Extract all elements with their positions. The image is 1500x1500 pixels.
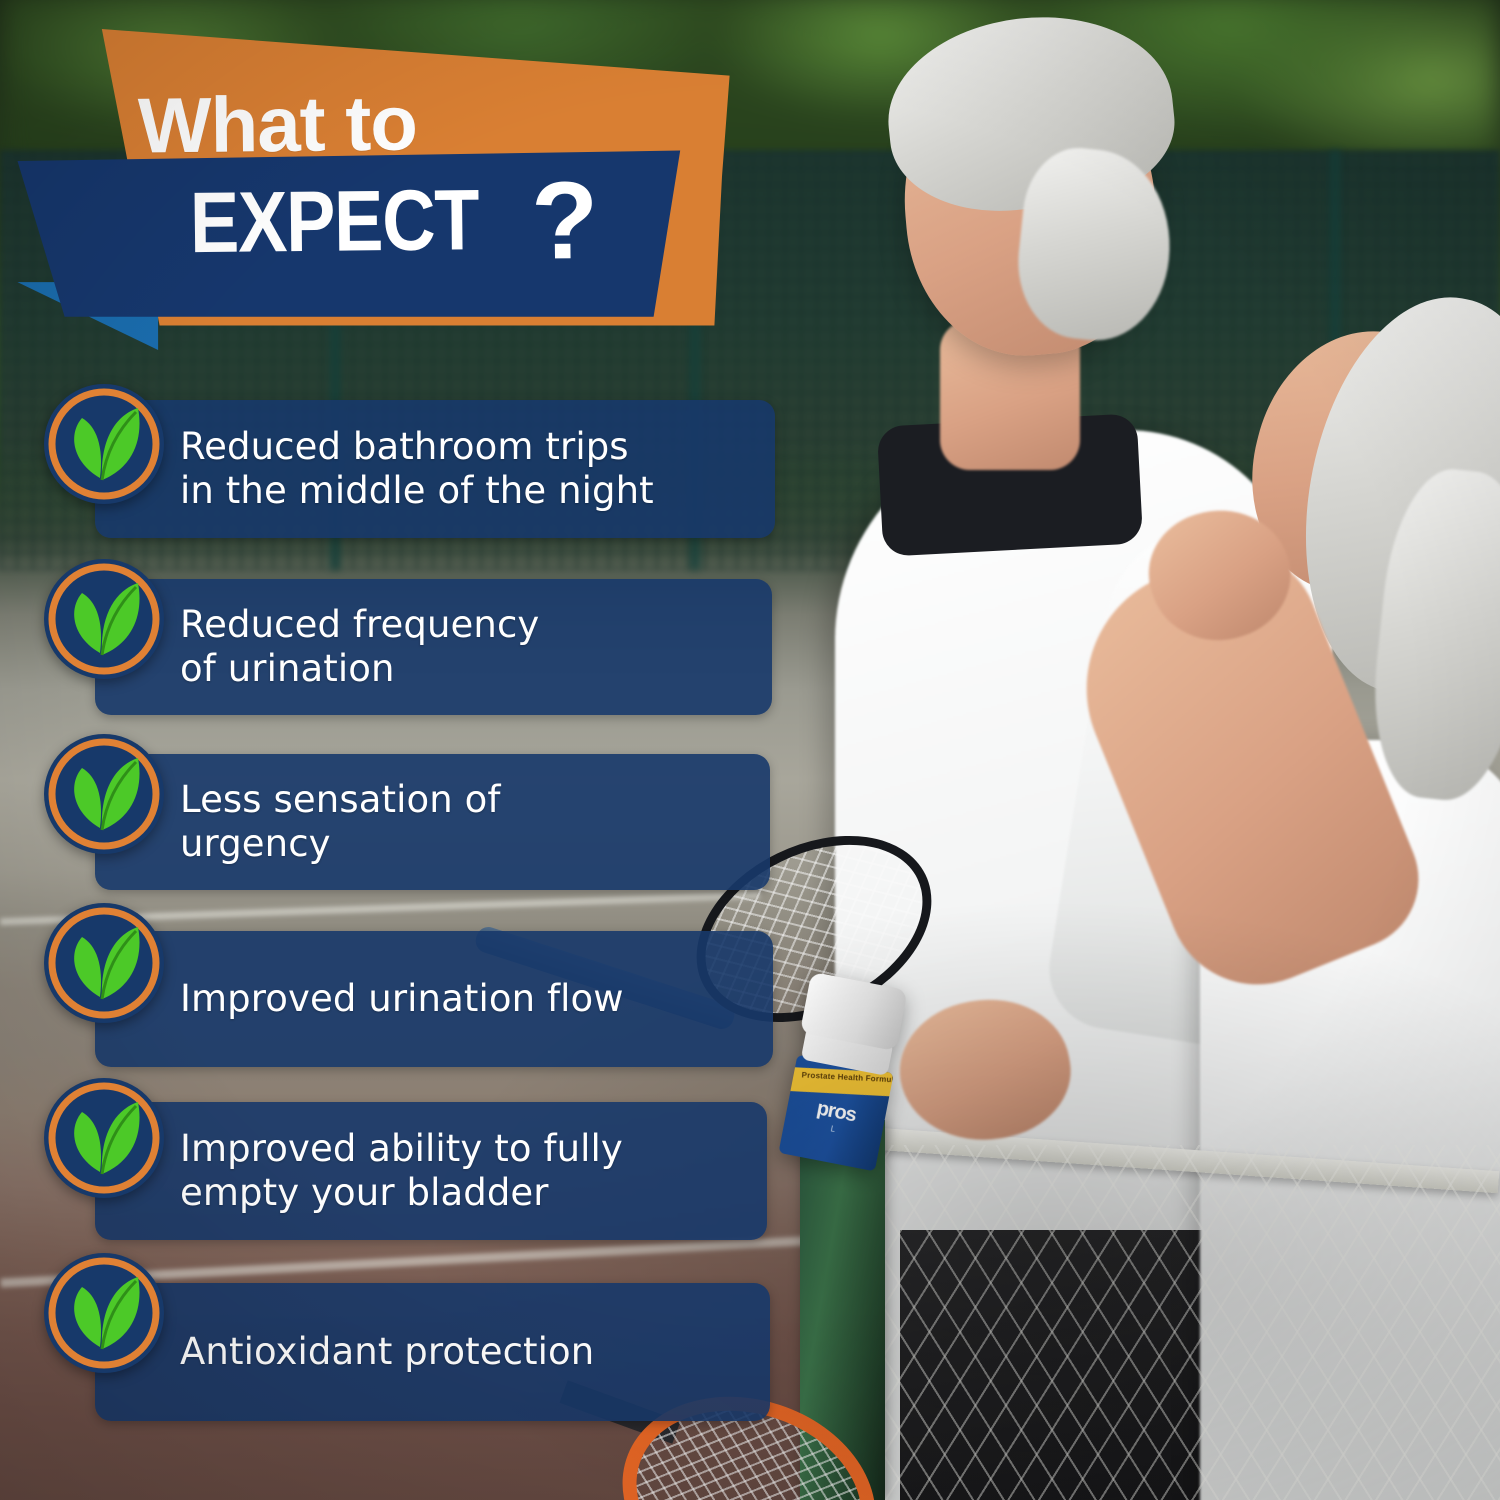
benefit-label: Improved urination flow xyxy=(95,977,642,1021)
heading-banner: What to EXPECT ? xyxy=(0,0,780,400)
benefit-pill[interactable]: Less sensation of urgency xyxy=(95,754,770,890)
leaf-icon xyxy=(42,732,166,856)
leaf-icon xyxy=(42,557,166,681)
benefit-pill[interactable]: Reduced bathroom trips in the middle of … xyxy=(95,400,775,538)
page-title-line-2: EXPECT xyxy=(190,177,479,266)
leaf-icon xyxy=(42,901,166,1025)
benefit-row: Reduced bathroom trips in the middle of … xyxy=(0,382,800,557)
leaf-icon xyxy=(42,382,166,506)
page-title-line-2-wrap: EXPECT ? xyxy=(190,176,599,270)
benefit-pill[interactable]: Improved ability to fully empty your bla… xyxy=(95,1102,767,1240)
benefit-pill[interactable]: Antioxidant protection xyxy=(95,1283,770,1421)
benefit-pill[interactable]: Improved urination flow xyxy=(95,931,773,1067)
benefit-label: Antioxidant protection xyxy=(95,1330,612,1374)
benefit-row: Antioxidant protection xyxy=(0,1257,800,1432)
promo-graphic: Prostate Health Formula pros L What to E… xyxy=(0,0,1500,1500)
benefit-label: Improved ability to fully empty your bla… xyxy=(95,1127,641,1214)
page-title-line-1: What to xyxy=(138,84,418,165)
leaf-icon xyxy=(42,1076,166,1200)
benefits-list: Reduced bathroom trips in the middle of … xyxy=(0,382,800,1432)
benefit-row: Improved urination flow xyxy=(0,907,800,1082)
benefit-pill[interactable]: Reduced frequency of urination xyxy=(95,579,772,715)
benefit-label: Reduced bathroom trips in the middle of … xyxy=(95,425,672,512)
question-mark: ? xyxy=(531,176,599,267)
benefit-row: Reduced frequency of urination xyxy=(0,557,800,732)
leaf-icon xyxy=(42,1251,166,1375)
benefit-row: Improved ability to fully empty your bla… xyxy=(0,1082,800,1257)
benefit-row: Less sensation of urgency xyxy=(0,732,800,907)
